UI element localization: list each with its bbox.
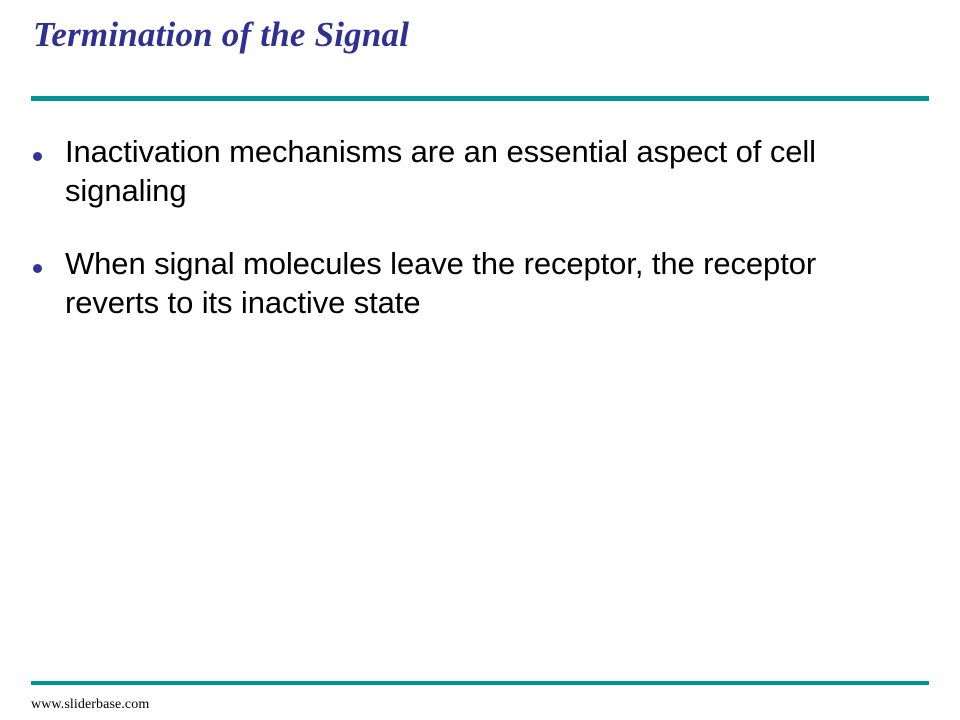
slide-canvas: Termination of the Signal Inactivation m…	[0, 0, 960, 720]
slide-body: Inactivation mechanisms are an essential…	[0, 132, 960, 322]
footer-divider-rule	[31, 681, 929, 685]
bullet-dot-icon	[33, 264, 42, 273]
slide-title: Termination of the Signal	[33, 14, 913, 56]
bullet-text: When signal molecules leave the receptor…	[65, 244, 910, 322]
footer-source-label: www.sliderbase.com	[31, 697, 149, 713]
bullet-item: Inactivation mechanisms are an essential…	[0, 132, 960, 210]
bullet-text: Inactivation mechanisms are an essential…	[65, 132, 910, 210]
bullet-dot-icon	[33, 152, 42, 161]
bullet-item: When signal molecules leave the receptor…	[0, 244, 960, 322]
title-divider-rule	[31, 96, 929, 101]
